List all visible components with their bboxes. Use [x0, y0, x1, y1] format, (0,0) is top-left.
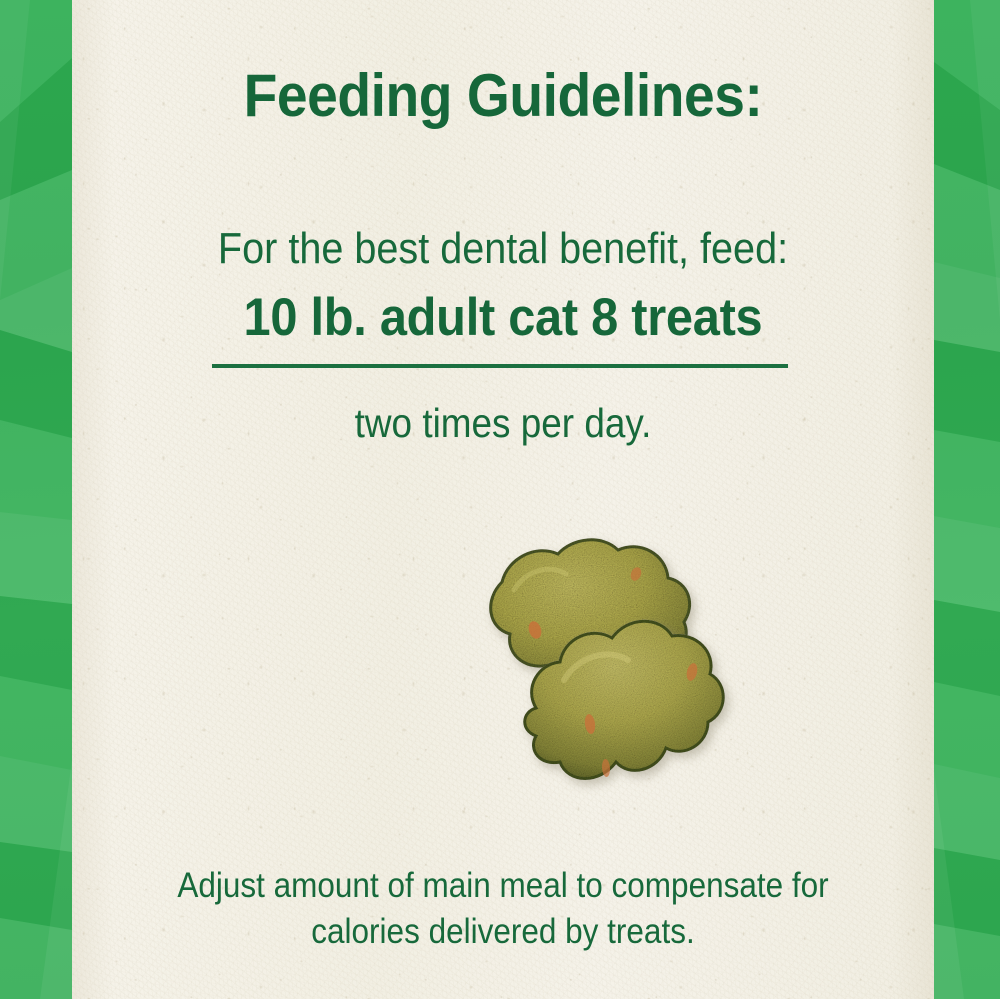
lead-instruction-text: For the best dental benefit, feed: [115, 223, 891, 275]
dosage-line-wrapper: 10 lb. adult cat 8 treats [72, 288, 934, 348]
panel-content: Feeding Guidelines: For the best dental … [72, 0, 934, 999]
cat-dental-treats-photo [440, 512, 740, 812]
right-green-border-band [934, 0, 1000, 999]
note-line-1: Adjust amount of main meal to compensate… [115, 863, 891, 909]
dosage-underline-rule [212, 364, 788, 368]
note-line-2: calories delivered by treats. [115, 909, 891, 955]
feeding-guidelines-panel: Feeding Guidelines: For the best dental … [0, 0, 1000, 999]
left-band-facets [0, 0, 72, 999]
treats-illustration [440, 512, 740, 812]
left-green-border-band [0, 0, 72, 999]
note-text: Adjust amount of main meal to compensate… [115, 863, 891, 955]
page-title: Feeding Guidelines: [106, 63, 899, 129]
frequency-text: two times per day. [115, 399, 891, 447]
dosage-text: 10 lb. adult cat 8 treats [244, 288, 763, 348]
right-band-facets [934, 0, 1000, 999]
